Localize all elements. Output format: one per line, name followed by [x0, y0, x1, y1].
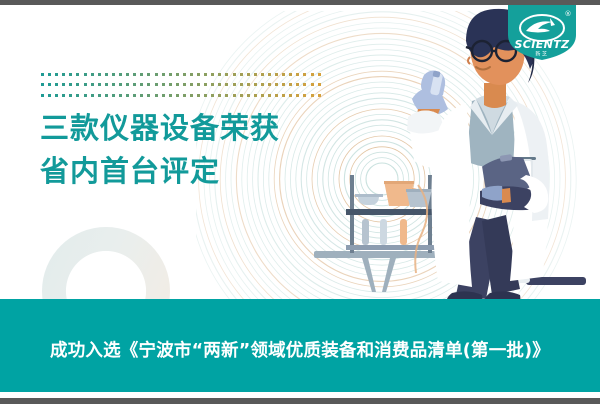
dot-grid-dot: [275, 83, 278, 86]
screenshot-bottom-bar: [0, 398, 600, 404]
registered-mark: ®: [565, 10, 572, 18]
dot-grid-dot: [240, 94, 243, 97]
dot-grid-row: [41, 94, 281, 98]
dot-grid-dot: [133, 94, 136, 97]
dot-grid-dot: [261, 94, 264, 97]
dot-grid-dot: [233, 94, 236, 97]
dot-grid-dot: [140, 94, 143, 97]
dot-grid-dot: [76, 83, 79, 86]
dot-grid-dot: [296, 83, 299, 86]
dot-grid-dot: [282, 83, 285, 86]
dot-grid-dot: [289, 73, 292, 76]
dot-grid-dot: [254, 73, 257, 76]
dot-grid-dot: [296, 73, 299, 76]
dot-grid-dot: [84, 94, 87, 97]
dot-grid-dot: [98, 73, 101, 76]
dot-grid-dot: [55, 94, 58, 97]
dot-grid-dot: [289, 83, 292, 86]
svg-text:SCIENTZ: SCIENTZ: [514, 38, 570, 51]
dot-grid-dot: [162, 94, 165, 97]
dot-grid-dot: [162, 73, 165, 76]
dot-grid-dot: [261, 73, 264, 76]
dot-grid-dot: [55, 83, 58, 86]
dot-grid-dot: [176, 94, 179, 97]
dot-grid-dot: [211, 83, 214, 86]
dot-grid-row: [41, 73, 281, 77]
dot-grid-dot: [84, 73, 87, 76]
dot-grid-dot: [76, 94, 79, 97]
dot-grid-dot: [176, 73, 179, 76]
dot-grid-dot: [218, 94, 221, 97]
dot-grid-dot: [69, 73, 72, 76]
dot-grid-dot: [126, 73, 129, 76]
dot-grid-dot: [225, 73, 228, 76]
dot-grid-dot: [119, 94, 122, 97]
dot-grid-dot: [140, 83, 143, 86]
dot-grid-dot: [62, 83, 65, 86]
dot-grid-dot: [275, 94, 278, 97]
dot-grid-dot: [233, 73, 236, 76]
logo-cn-mark: 新芝: [535, 51, 548, 58]
dot-grid-dot: [197, 83, 200, 86]
dot-grid-dot: [48, 94, 51, 97]
screenshot-top-bar: [0, 0, 600, 5]
dot-grid-dot: [140, 73, 143, 76]
dot-grid-dot: [162, 83, 165, 86]
dot-grid-dot: [197, 94, 200, 97]
dot-grid-dot: [218, 73, 221, 76]
dot-grid-dot: [126, 94, 129, 97]
dot-grid-dot: [126, 83, 129, 86]
dot-grid-dot: [296, 94, 299, 97]
award-banner-text: 成功入选《宁波市“两新”领域优质装备和消费品清单(第一批)》: [50, 329, 550, 362]
dot-grid-dot: [282, 94, 285, 97]
dot-grid-dot: [275, 73, 278, 76]
dot-grid-dot: [69, 94, 72, 97]
dot-grid-dot: [268, 83, 271, 86]
dot-grid-dot: [183, 73, 186, 76]
headline-line-2: 省内首台评定: [40, 152, 280, 191]
dot-grid-dot: [41, 83, 44, 86]
dot-grid-dot: [105, 73, 108, 76]
dot-grid-dot: [105, 94, 108, 97]
dot-grid-dot: [98, 94, 101, 97]
dot-grid-dot: [147, 83, 150, 86]
dot-grid-dot: [268, 94, 271, 97]
dot-grid-dot: [133, 73, 136, 76]
poster-root: 三款仪器设备荣获 省内首台评定: [0, 0, 600, 404]
dot-grid-dot: [211, 73, 214, 76]
dot-grid-decoration: [41, 73, 281, 99]
dot-grid-dot: [261, 83, 264, 86]
scientz-logo[interactable]: SCIENTZ 新芝 ®: [506, 5, 578, 61]
dot-grid-dot: [105, 83, 108, 86]
dot-grid-dot: [41, 94, 44, 97]
dot-grid-dot: [254, 83, 257, 86]
dot-grid-dot: [169, 73, 172, 76]
dot-grid-dot: [147, 94, 150, 97]
dot-grid-dot: [233, 83, 236, 86]
dot-grid-dot: [112, 73, 115, 76]
dot-grid-dot: [268, 73, 271, 76]
dot-grid-dot: [62, 94, 65, 97]
dot-grid-dot: [282, 73, 285, 76]
dot-grid-dot: [204, 83, 207, 86]
dot-grid-dot: [190, 73, 193, 76]
dot-grid-dot: [225, 83, 228, 86]
dot-grid-dot: [112, 94, 115, 97]
dot-grid-dot: [112, 83, 115, 86]
dot-grid-dot: [98, 83, 101, 86]
dot-grid-dot: [133, 83, 136, 86]
dot-grid-dot: [55, 73, 58, 76]
dot-grid-dot: [155, 83, 158, 86]
dot-grid-dot: [183, 94, 186, 97]
headline-line-1: 三款仪器设备荣获: [40, 109, 280, 148]
dot-grid-dot: [119, 83, 122, 86]
dot-grid-dot: [204, 94, 207, 97]
dot-grid-dot: [176, 83, 179, 86]
dot-grid-dot: [204, 73, 207, 76]
dot-grid-dot: [69, 83, 72, 86]
dot-grid-dot: [91, 73, 94, 76]
dot-grid-dot: [218, 83, 221, 86]
dot-grid-dot: [247, 73, 250, 76]
dot-grid-dot: [91, 94, 94, 97]
dot-grid-dot: [247, 83, 250, 86]
page-title: 三款仪器设备荣获 省内首台评定: [40, 109, 280, 190]
dot-grid-dot: [240, 73, 243, 76]
dot-grid-dot: [254, 94, 257, 97]
dot-grid-dot: [147, 73, 150, 76]
dot-grid-dot: [190, 83, 193, 86]
dot-grid-dot: [289, 94, 292, 97]
dot-grid-dot: [62, 73, 65, 76]
dot-grid-row: [41, 83, 281, 87]
dot-grid-dot: [84, 83, 87, 86]
dot-grid-dot: [48, 83, 51, 86]
dot-grid-dot: [155, 94, 158, 97]
dot-grid-dot: [169, 83, 172, 86]
dot-grid-dot: [119, 73, 122, 76]
dot-grid-dot: [76, 73, 79, 76]
award-banner: 成功入选《宁波市“两新”领域优质装备和消费品清单(第一批)》: [0, 299, 600, 392]
dot-grid-dot: [240, 83, 243, 86]
dot-grid-dot: [247, 94, 250, 97]
dot-grid-dot: [183, 83, 186, 86]
dot-grid-dot: [155, 73, 158, 76]
dot-grid-dot: [225, 94, 228, 97]
dot-grid-dot: [169, 94, 172, 97]
artboard: 三款仪器设备荣获 省内首台评定: [0, 5, 600, 398]
dot-grid-dot: [190, 94, 193, 97]
dot-grid-dot: [48, 73, 51, 76]
dot-grid-dot: [197, 73, 200, 76]
dot-grid-dot: [41, 73, 44, 76]
dot-grid-dot: [211, 94, 214, 97]
dot-grid-dot: [91, 83, 94, 86]
